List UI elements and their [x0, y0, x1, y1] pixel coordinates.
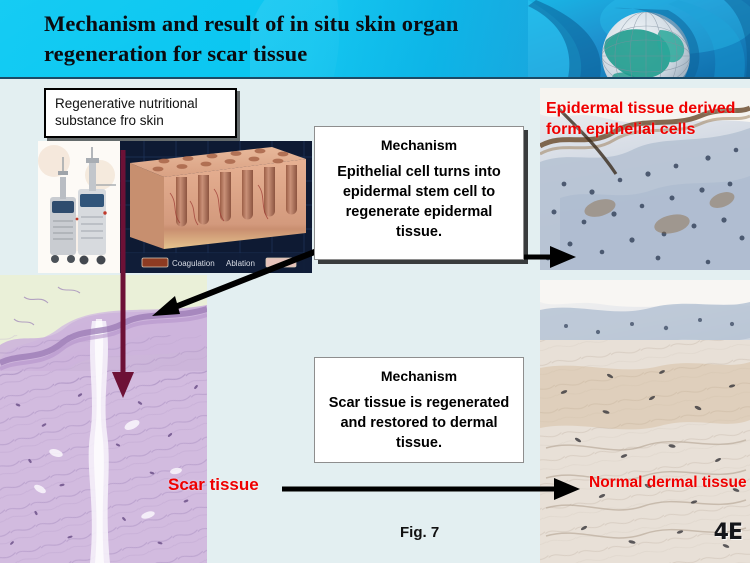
callout-mechanism-2-body: Scar tissue is regenerated and restored … — [315, 393, 523, 453]
callout-mechanism-1-body: Epithelial cell turns into epidermal ste… — [315, 162, 523, 242]
figure-caption: Fig. 7 — [400, 524, 439, 541]
callout-regenerative-substance: Regenerative nutritional substance fro s… — [44, 88, 237, 138]
label-scar-tissue: Scar tissue — [168, 475, 259, 495]
arrow-down-treatment — [108, 150, 138, 400]
slide-header: Mechanism and result of in situ skin org… — [0, 0, 750, 78]
callout-mechanism-2-title: Mechanism — [315, 366, 523, 386]
slide-canvas: Mechanism and result of in situ skin org… — [0, 0, 750, 563]
watermark-logo: 4E — [714, 520, 742, 545]
callout-mechanism-2: Mechanism Scar tissue is regenerated and… — [314, 357, 524, 463]
arrow-scar-to-dermal — [282, 476, 582, 502]
page-title: Mechanism and result of in situ skin org… — [44, 9, 564, 69]
label-normal-dermal-tissue: Normal dermal tissue — [589, 473, 749, 493]
callout-mechanism-1: Mechanism Epithelial cell turns into epi… — [314, 126, 524, 260]
header-divider — [0, 77, 750, 79]
label-epidermal-tissue: Epidermal tissue derived form epithelial… — [546, 99, 750, 140]
callout-mechanism-1-title: Mechanism — [315, 135, 523, 155]
arrow-mechanism1-to-scar — [150, 246, 325, 324]
callout-regenerative-substance-text: Regenerative nutritional substance fro s… — [55, 96, 198, 128]
